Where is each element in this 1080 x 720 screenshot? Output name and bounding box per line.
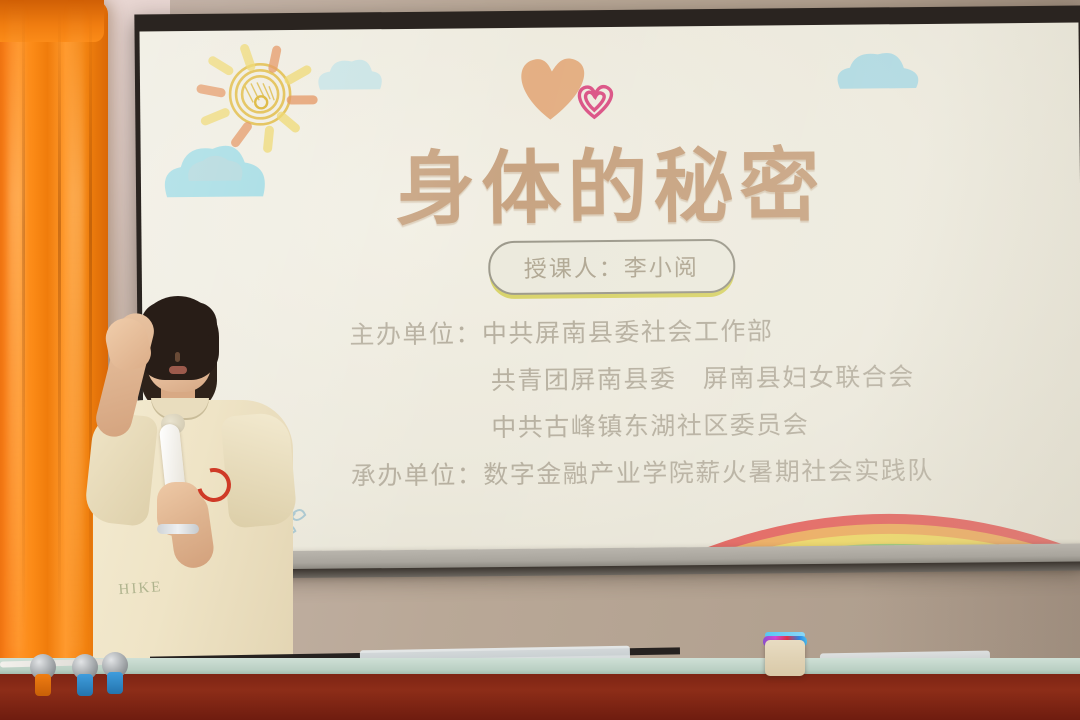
desk-front-panel bbox=[0, 674, 1080, 720]
curtain-highlight bbox=[8, 0, 24, 650]
sleeve-right bbox=[220, 411, 298, 529]
curtain-fold bbox=[58, 10, 61, 630]
mic-body bbox=[35, 674, 51, 696]
bluetooth-speaker[interactable] bbox=[765, 640, 805, 676]
mic-body bbox=[107, 672, 123, 694]
bracelet bbox=[157, 524, 199, 534]
shirt-print-text: HIKE bbox=[118, 578, 180, 610]
presenter-name-pill: 授课人：李小阅 bbox=[488, 239, 736, 295]
presenter: HIKE bbox=[85, 296, 295, 676]
slide-title: 身体的秘密 bbox=[140, 118, 1080, 243]
stage-mic-3[interactable] bbox=[102, 652, 128, 694]
mouth bbox=[169, 366, 187, 374]
nose bbox=[175, 352, 180, 362]
cloud-doodle-right-icon bbox=[830, 42, 931, 104]
heart-doodle-group bbox=[510, 47, 631, 128]
mic-body bbox=[77, 674, 93, 696]
stage-mic-1[interactable] bbox=[30, 654, 56, 696]
cloud-doodle-top-left-icon bbox=[310, 51, 390, 103]
curtain-highlight bbox=[68, 0, 84, 650]
stage-mic-2[interactable] bbox=[72, 654, 98, 696]
classroom-scene: 身体的秘密 授课人：李小阅 主办单位：中共屏南县委社会工作部 共青团屏南县委 屏… bbox=[0, 0, 1080, 720]
